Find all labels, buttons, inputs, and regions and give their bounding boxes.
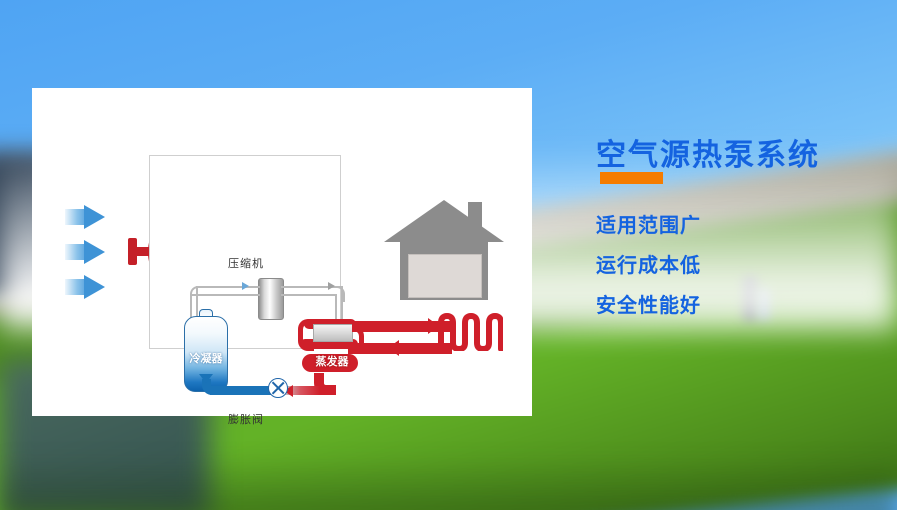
- fan-hub: [128, 238, 137, 265]
- feature-item: 适用范围广: [596, 205, 701, 245]
- compressor-label: 压缩机: [228, 255, 264, 271]
- heating-coil-icon: [437, 313, 503, 351]
- evaporator-plate: [313, 324, 353, 342]
- background-foot-shadow: [0, 455, 897, 510]
- expansion-valve-icon: [268, 378, 288, 398]
- air-arrow-icon: [65, 205, 105, 229]
- evaporator-label: 蒸发器: [304, 353, 360, 369]
- feature-item: 运行成本低: [596, 245, 701, 285]
- air-arrow-head: [84, 275, 105, 299]
- flow-arrow-icon: [388, 340, 399, 356]
- air-arrow-head: [84, 240, 105, 264]
- expansion-valve-label: 膨胀阀: [228, 411, 264, 427]
- air-arrow-icon: [65, 240, 105, 264]
- condenser-label: 冷凝器: [184, 350, 228, 366]
- title-accent-bar: [600, 172, 663, 184]
- slide-root: 压缩机 冷凝器 蒸发器 膨胀阀: [0, 0, 897, 510]
- feature-item: 安全性能好: [596, 285, 701, 325]
- compressor-body: [258, 278, 284, 320]
- house-roof: [384, 200, 504, 242]
- flow-arrow-icon: [242, 282, 249, 290]
- air-arrow-tail: [65, 244, 85, 260]
- page-title: 空气源热泵系统: [596, 130, 820, 174]
- house-icon: [384, 200, 504, 300]
- flow-arrow-icon: [328, 282, 335, 290]
- flow-arrow-icon: [199, 374, 213, 383]
- air-arrow-head: [84, 205, 105, 229]
- illustration-card: 压缩机 冷凝器 蒸发器 膨胀阀: [32, 88, 532, 416]
- feature-list: 适用范围广 运行成本低 安全性能好: [596, 205, 701, 325]
- gas-pipe-corner-left: [190, 286, 206, 302]
- underfloor-heating-area: [408, 254, 482, 298]
- air-arrow-icon: [65, 275, 105, 299]
- air-arrow-tail: [65, 209, 85, 225]
- air-arrow-tail: [65, 279, 85, 295]
